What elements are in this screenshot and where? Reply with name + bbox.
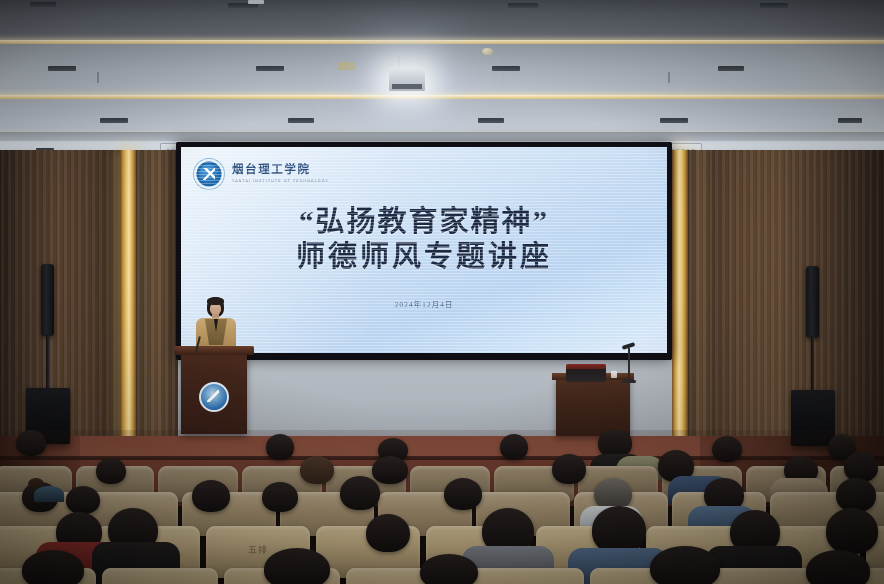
audience-head xyxy=(264,548,330,584)
ceiling-projector xyxy=(389,68,425,91)
audience-head xyxy=(192,480,230,512)
ceiling-vent xyxy=(100,118,128,123)
ceiling-vent xyxy=(838,118,862,123)
audience-head xyxy=(826,508,878,554)
projector-lens-panel xyxy=(392,84,422,89)
ceiling-hanger-pin xyxy=(97,72,99,83)
ceiling-vent xyxy=(660,118,688,123)
audience-head xyxy=(592,506,646,554)
audience-head xyxy=(262,482,298,512)
cup xyxy=(611,371,617,378)
audience-head xyxy=(96,458,126,484)
audience-head xyxy=(340,476,380,510)
microphone-stand xyxy=(628,348,630,382)
audience-head xyxy=(650,546,720,584)
ceiling-vent xyxy=(48,66,76,71)
audience-head xyxy=(366,514,410,552)
ceiling-band-1 xyxy=(0,0,884,42)
audience-head xyxy=(836,478,876,512)
ceiling-vent xyxy=(718,66,744,71)
projection-screen: 烟台理工学院 YANTAI INSTITUTE OF TECHNOLOGY “弘… xyxy=(181,147,667,353)
podium-top-surface xyxy=(174,346,254,355)
ceiling-vent xyxy=(760,3,788,8)
ceiling-vent xyxy=(256,66,284,71)
wood-panel-inner-left xyxy=(136,150,178,440)
ceiling-sensor xyxy=(338,62,356,70)
audience-head xyxy=(444,478,482,510)
ceiling-beam xyxy=(0,132,884,141)
line-array-speaker xyxy=(806,266,819,338)
audience-head xyxy=(552,454,586,484)
ceiling-vent xyxy=(478,118,504,123)
side-table xyxy=(556,378,630,436)
seat xyxy=(468,568,584,584)
audience-head xyxy=(22,550,84,584)
podium xyxy=(181,352,247,434)
ceiling-band-2 xyxy=(0,44,884,96)
ceiling-vent xyxy=(492,66,520,71)
ceiling-hanger-pin xyxy=(668,72,670,83)
seat xyxy=(102,568,218,584)
audience-head xyxy=(806,550,870,584)
audience-head xyxy=(420,554,478,584)
audience-head xyxy=(372,456,408,484)
podium-university-emblem-icon xyxy=(199,382,229,412)
microphone-base xyxy=(622,380,636,383)
accent-light-strip-right xyxy=(672,150,688,440)
laptop xyxy=(566,364,606,382)
line-array-speaker xyxy=(41,264,54,336)
screen-scanlines xyxy=(181,147,667,353)
audience-head xyxy=(66,486,100,514)
audience-head xyxy=(500,434,528,460)
audience-head xyxy=(266,434,294,460)
wood-panel-inner-right xyxy=(688,150,712,440)
audience-area: 五排 6 五排 xyxy=(0,430,884,584)
audience-head xyxy=(300,456,334,484)
audience-head xyxy=(16,430,46,456)
audience-head xyxy=(712,436,742,462)
ceiling-light-fixture xyxy=(248,0,264,4)
ceiling-vent xyxy=(288,118,314,123)
accent-light-strip-left xyxy=(120,150,136,440)
audience-head xyxy=(844,452,878,482)
ceiling xyxy=(0,0,884,150)
audience-cap xyxy=(34,486,64,502)
presenter-hair xyxy=(207,297,224,305)
ceiling-vent xyxy=(508,3,538,8)
smoke-detector-icon xyxy=(482,48,493,55)
auditorium-photo: 烟台理工学院 YANTAI INSTITUTE OF TECHNOLOGY “弘… xyxy=(0,0,884,584)
ceiling-vent xyxy=(30,2,56,7)
